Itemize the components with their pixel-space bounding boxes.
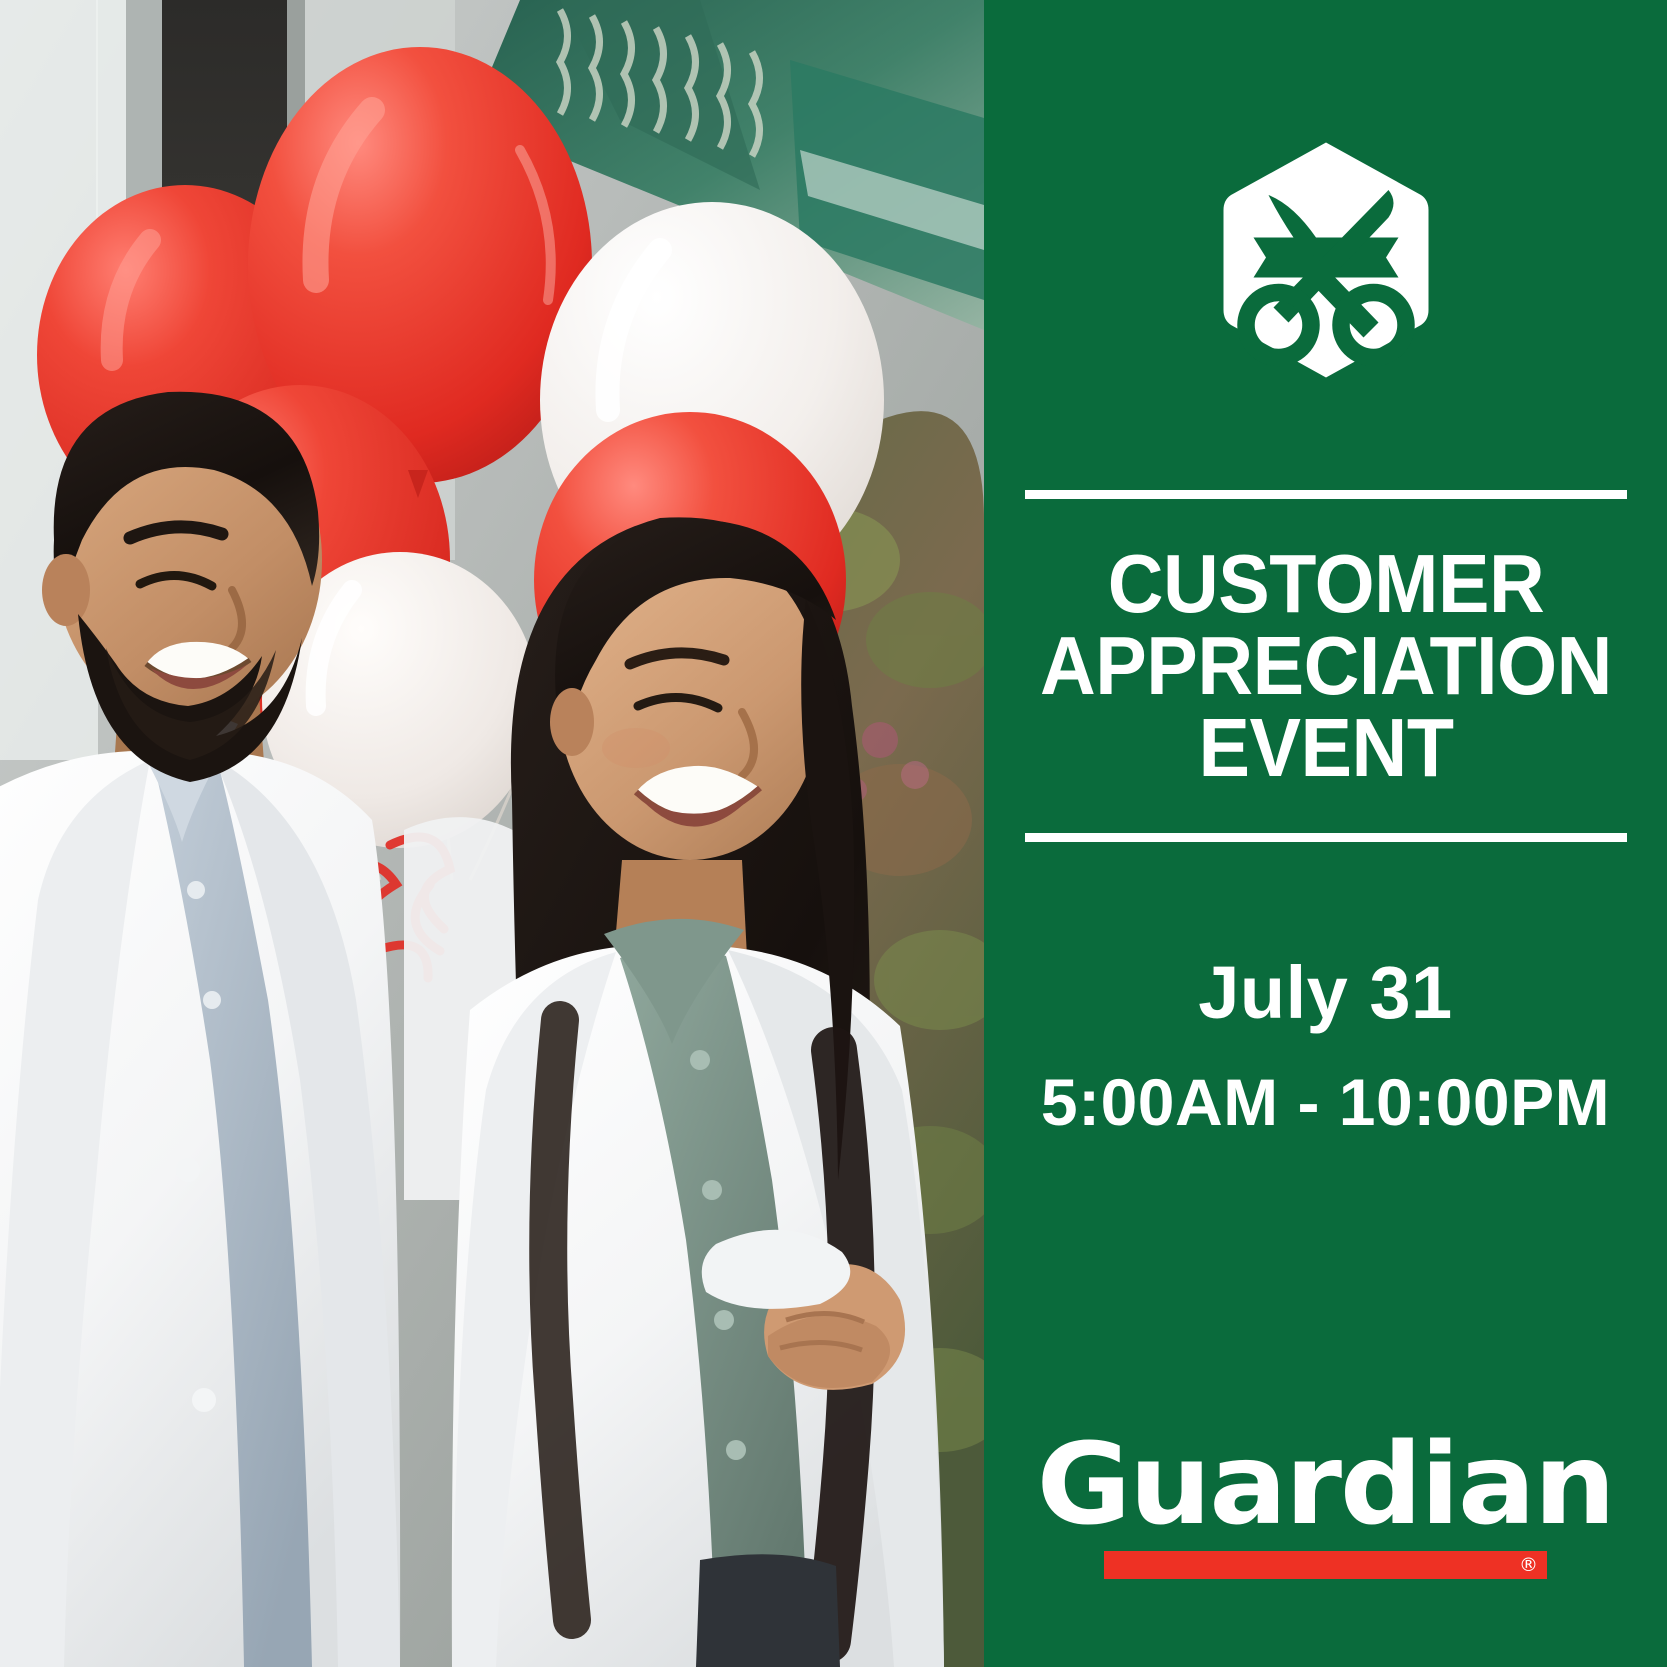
logo-wordmark: Guardian <box>1037 1429 1614 1541</box>
logo-underline-bar: ® <box>1104 1551 1547 1579</box>
divider-rule-top <box>1025 490 1627 499</box>
registered-trademark-icon: ® <box>1519 1556 1538 1575</box>
event-date: July 31 <box>984 952 1667 1035</box>
headline-line-3: EVENT <box>1028 707 1623 789</box>
divider-rule-bottom <box>1025 833 1627 842</box>
event-time: 5:00AM - 10:00PM <box>984 1063 1667 1142</box>
event-details: July 31 5:00AM - 10:00PM <box>984 952 1667 1142</box>
ribbon-cutting-badge-icon <box>1201 135 1451 385</box>
headline-line-2: APPRECIATION <box>1028 625 1623 707</box>
info-panel: CUSTOMER APPRECIATION EVENT July 31 5:00… <box>984 0 1667 1667</box>
brand-logo: Guardian ® <box>984 1429 1667 1579</box>
headline-line-1: CUSTOMER <box>1028 543 1623 625</box>
promo-poster: CUSTOMER APPRECIATION EVENT July 31 5:00… <box>0 0 1667 1667</box>
event-photo <box>0 0 984 1667</box>
page-title: CUSTOMER APPRECIATION EVENT <box>1028 543 1623 789</box>
